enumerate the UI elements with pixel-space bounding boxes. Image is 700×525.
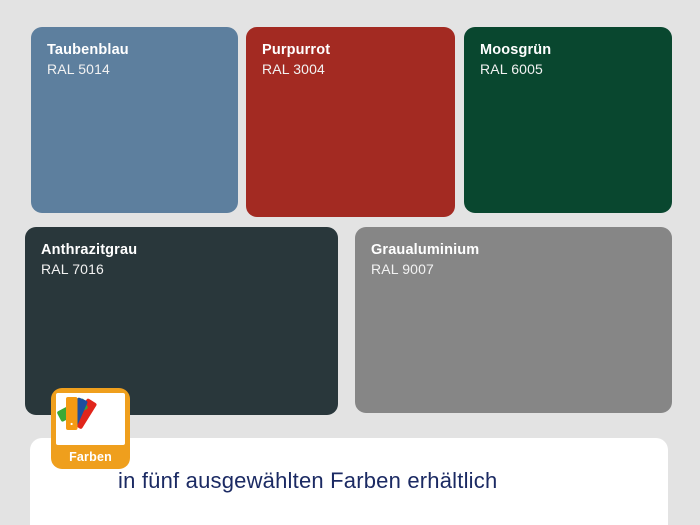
color-swatch-code: RAL 5014	[47, 60, 238, 79]
fan-deck-icon	[56, 393, 125, 445]
color-swatch-name: Purpurrot	[262, 41, 455, 60]
color-swatch-code: RAL 9007	[371, 260, 672, 279]
farben-logo-badge[interactable]: Farben	[51, 388, 130, 469]
color-swatch-name: Anthrazitgrau	[41, 241, 338, 260]
color-swatch-anthrazitgrau[interactable]: Anthrazitgrau RAL 7016	[25, 227, 338, 415]
color-swatch-name: Taubenblau	[47, 41, 238, 60]
color-swatch-graualuminium[interactable]: Graualuminium RAL 9007	[355, 227, 672, 413]
color-swatch-code: RAL 6005	[480, 60, 672, 79]
color-swatch-code: RAL 3004	[262, 60, 455, 79]
color-swatch-name: Graualuminium	[371, 241, 672, 260]
color-swatch-purpurrot[interactable]: Purpurrot RAL 3004	[246, 27, 455, 217]
color-palette-graphic: Taubenblau RAL 5014 Purpurrot RAL 3004 M…	[0, 0, 700, 525]
footer-tagline: in fünf ausgewählten Farben erhältlich	[118, 468, 497, 494]
color-swatch-taubenblau[interactable]: Taubenblau RAL 5014	[31, 27, 238, 213]
color-swatch-moosgruen[interactable]: Moosgrün RAL 6005	[464, 27, 672, 213]
farben-logo-label: Farben	[56, 445, 125, 469]
color-swatch-code: RAL 7016	[41, 260, 338, 279]
color-swatch-name: Moosgrün	[480, 41, 672, 60]
